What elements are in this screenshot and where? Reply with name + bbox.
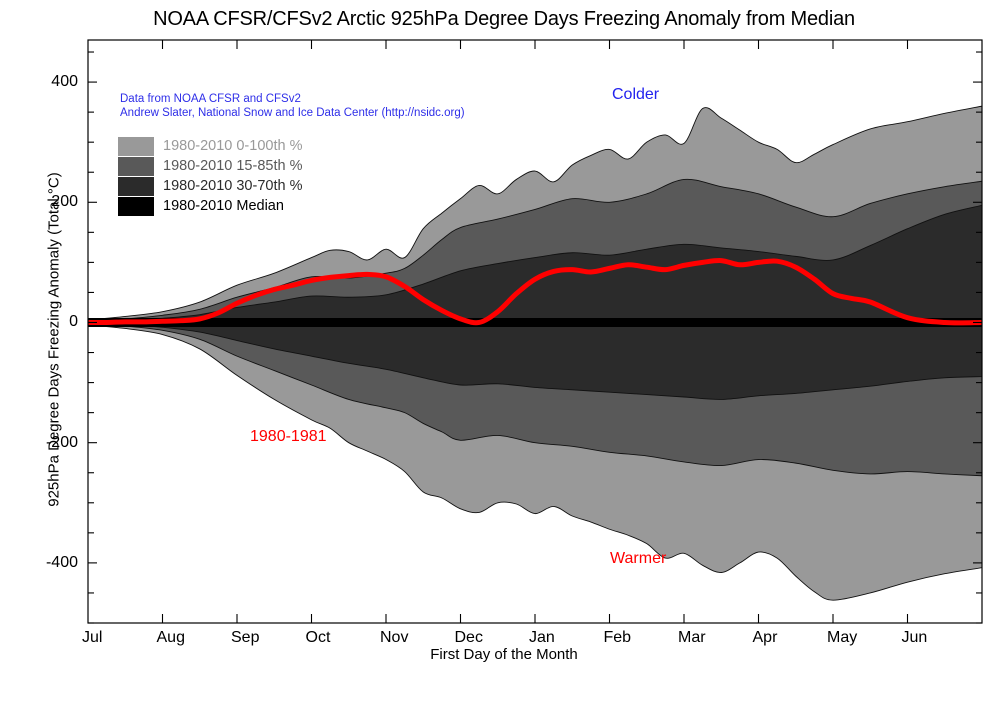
y-tick-label: -200	[16, 435, 78, 451]
x-tick-label-may: May	[827, 630, 857, 646]
y-tick-label: 0	[16, 314, 78, 330]
credit-line-1: Data from NOAA CFSR and CFSv2	[120, 92, 301, 106]
x-tick-label-feb: Feb	[604, 630, 632, 646]
x-tick-label-jun: Jun	[902, 630, 928, 646]
y-tick-label: 400	[16, 74, 78, 90]
x-tick-label-jul: Jul	[82, 630, 102, 646]
x-tick-label-mar: Mar	[678, 630, 706, 646]
x-tick-label-apr: Apr	[753, 630, 778, 646]
annotation-colder: Colder	[612, 86, 659, 104]
chart-legend: 1980-2010 0-100th %1980-2010 15-85th %19…	[118, 136, 302, 216]
x-tick-label-sep: Sep	[231, 630, 259, 646]
y-tick-label: 200	[16, 194, 78, 210]
legend-item-0: 1980-2010 0-100th %	[118, 136, 302, 156]
legend-label: 1980-2010 15-85th %	[163, 157, 302, 176]
legend-swatch-icon	[118, 197, 154, 216]
legend-item-2: 1980-2010 30-70th %	[118, 176, 302, 196]
x-tick-label-aug: Aug	[157, 630, 185, 646]
legend-item-3: 1980-2010 Median	[118, 196, 302, 216]
legend-swatch-icon	[118, 177, 154, 196]
legend-swatch-icon	[118, 157, 154, 176]
legend-label: 1980-2010 Median	[163, 197, 284, 216]
annotation-1980-1981: 1980-1981	[250, 428, 327, 446]
x-tick-label-jan: Jan	[529, 630, 555, 646]
x-tick-label-oct: Oct	[306, 630, 331, 646]
y-tick-label: -400	[16, 555, 78, 571]
x-tick-label-dec: Dec	[455, 630, 483, 646]
legend-swatch-icon	[118, 137, 154, 156]
chart-figure: NOAA CFSR/CFSv2 Arctic 925hPa Degree Day…	[0, 0, 1008, 720]
legend-label: 1980-2010 30-70th %	[163, 177, 302, 196]
legend-label: 1980-2010 0-100th %	[163, 137, 302, 156]
annotation-warmer: Warmer	[610, 550, 666, 568]
x-tick-label-nov: Nov	[380, 630, 408, 646]
credit-line-2: Andrew Slater, National Snow and Ice Dat…	[120, 106, 465, 120]
legend-item-1: 1980-2010 15-85th %	[118, 156, 302, 176]
